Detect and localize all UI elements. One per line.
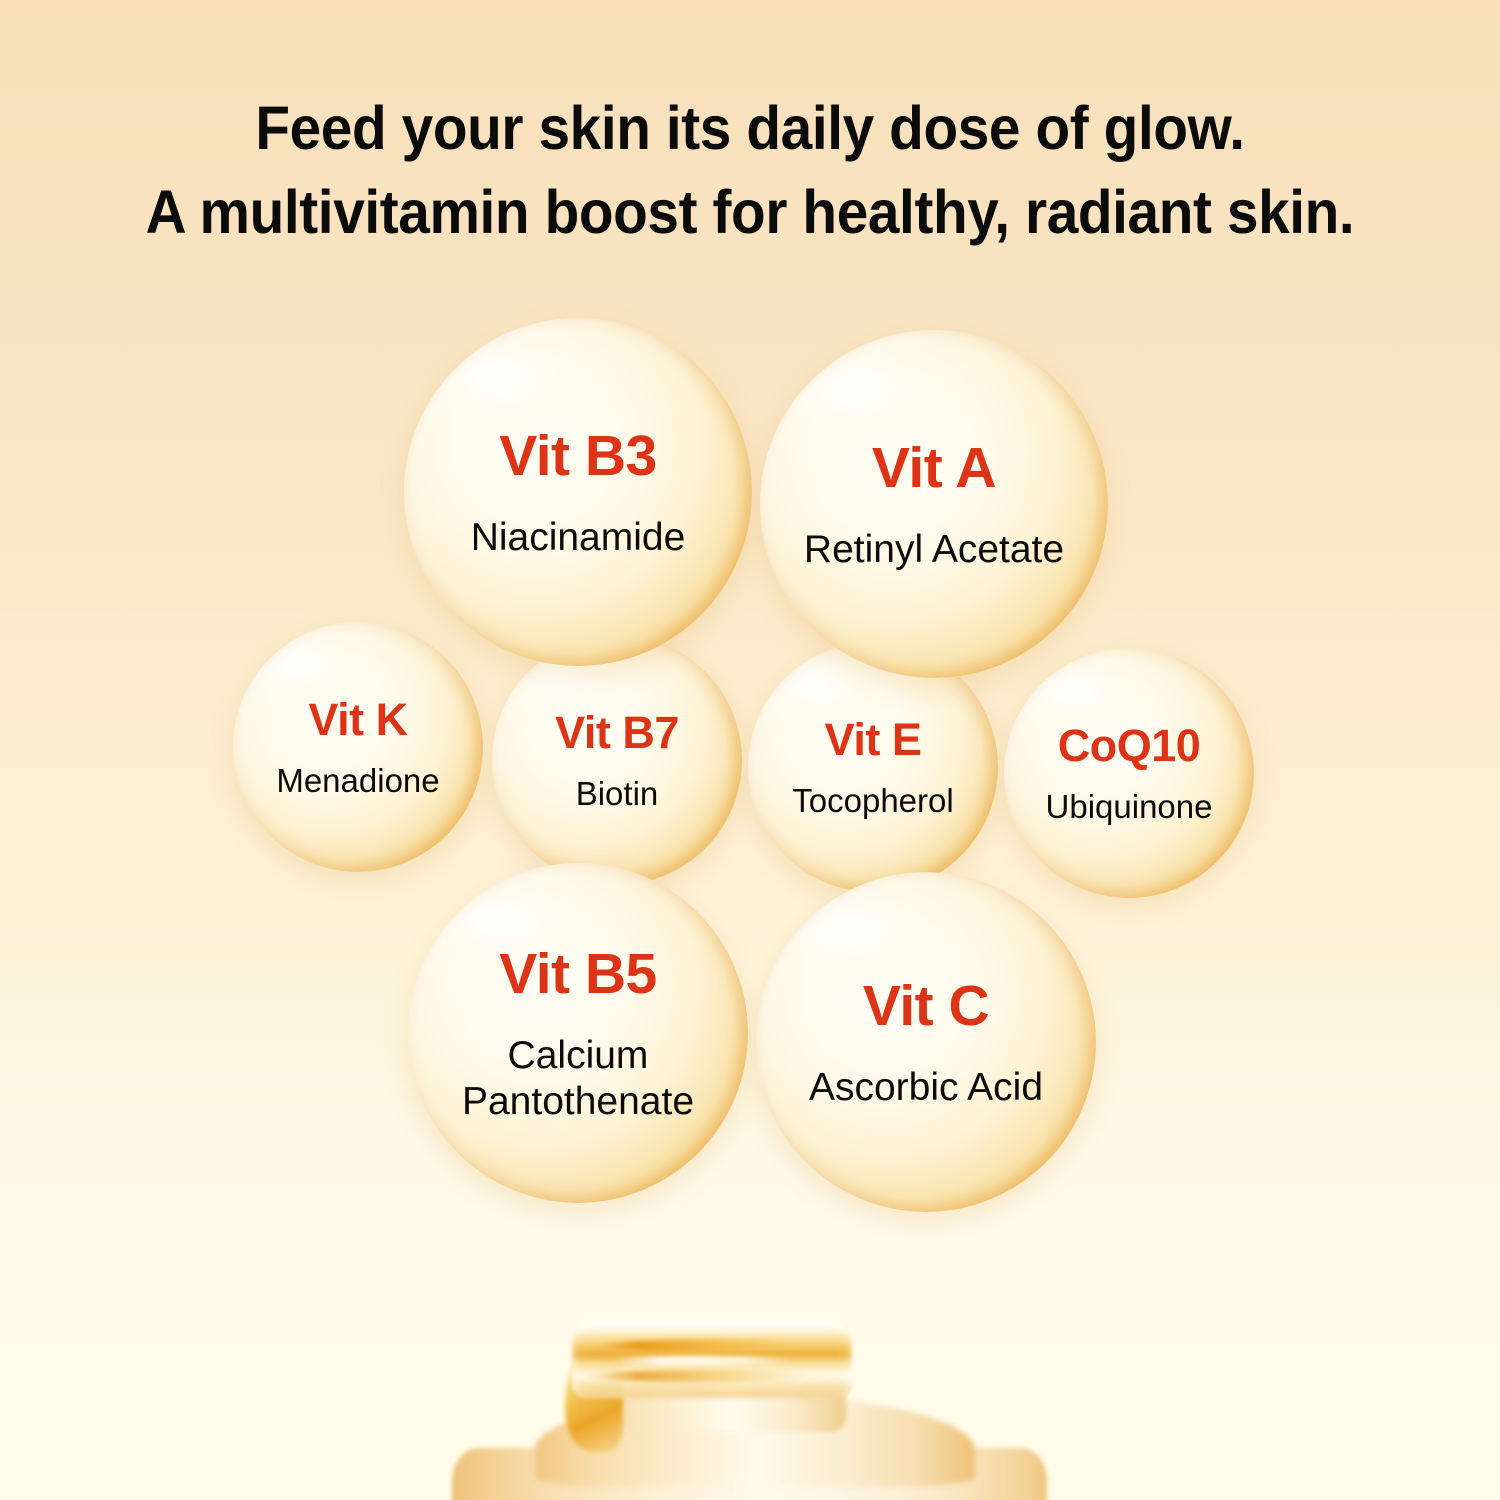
vitamin-compound-vit-c: Ascorbic Acid bbox=[809, 1065, 1043, 1111]
bubble-content: Vit CAscorbic Acid bbox=[756, 872, 1096, 1212]
serum-bottle-image bbox=[430, 1300, 1070, 1500]
vitamin-compound-vit-b7: Biotin bbox=[576, 775, 659, 814]
vitamin-compound-vit-a: Retinyl Acetate bbox=[804, 527, 1064, 573]
ingredient-bubble-vit-b5: Vit B5CalciumPantothenate bbox=[408, 863, 748, 1203]
vitamin-name-vit-b3: Vit B3 bbox=[499, 423, 657, 489]
vitamin-name-vit-k: Vit K bbox=[308, 694, 407, 746]
vitamin-compound-coq10: Ubiquinone bbox=[1046, 788, 1213, 827]
cap-amber-streak-2 bbox=[586, 1370, 816, 1382]
bubble-content: Vit ARetinyl Acetate bbox=[760, 330, 1108, 678]
bubble-content: Vit B5CalciumPantothenate bbox=[408, 863, 748, 1203]
ingredient-bubble-vit-c: Vit CAscorbic Acid bbox=[756, 872, 1096, 1212]
vitamin-name-vit-b5: Vit B5 bbox=[499, 941, 657, 1007]
vitamin-compound-vit-k: Menadione bbox=[276, 762, 439, 801]
vitamin-name-vit-c: Vit C bbox=[863, 973, 989, 1039]
vitamin-name-vit-e: Vit E bbox=[825, 714, 922, 766]
bubble-content: Vit B7Biotin bbox=[492, 635, 742, 885]
vitamin-name-vit-a: Vit A bbox=[872, 435, 996, 501]
cap-amber-streak-1 bbox=[598, 1340, 808, 1351]
ingredient-bubble-vit-e: Vit ETocopherol bbox=[748, 642, 998, 892]
cap-white-streak bbox=[610, 1356, 800, 1365]
vitamin-compound-vit-e: Tocopherol bbox=[792, 782, 953, 821]
ingredient-bubble-vit-a: Vit ARetinyl Acetate bbox=[760, 330, 1108, 678]
infographic-canvas: Feed your skin its daily dose of glow. A… bbox=[0, 0, 1500, 1500]
vitamin-name-coq10: CoQ10 bbox=[1058, 720, 1201, 772]
ingredient-bubble-coq10: CoQ10Ubiquinone bbox=[1004, 648, 1254, 898]
bubble-content: Vit ETocopherol bbox=[748, 642, 998, 892]
bubble-content: Vit B3Niacinamide bbox=[404, 318, 752, 666]
vitamin-compound-vit-b5: CalciumPantothenate bbox=[462, 1033, 694, 1124]
bubble-content: CoQ10Ubiquinone bbox=[1004, 648, 1254, 898]
ingredient-bubble-cluster: Vit KMenadioneVit B7BiotinVit ETocophero… bbox=[0, 0, 1500, 1500]
vitamin-compound-vit-b3: Niacinamide bbox=[471, 515, 686, 561]
vitamin-name-vit-b7: Vit B7 bbox=[555, 707, 679, 759]
ingredient-bubble-vit-b3: Vit B3Niacinamide bbox=[404, 318, 752, 666]
ingredient-bubble-vit-b7: Vit B7Biotin bbox=[492, 635, 742, 885]
